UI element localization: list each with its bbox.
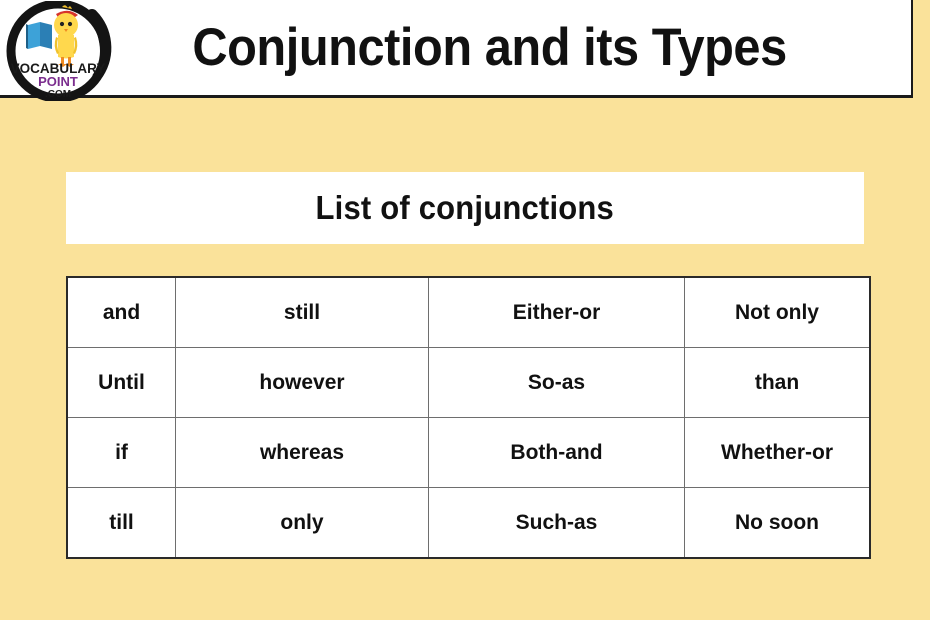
table-cell: Either-or [429, 277, 685, 348]
list-of-conjunctions-banner: List of conjunctions [66, 172, 864, 244]
book-icon [26, 22, 52, 49]
logo-line-com: .COM [45, 89, 71, 100]
table-cell: till [67, 488, 176, 559]
table-cell: No soon [685, 488, 871, 559]
table-cell: than [685, 348, 871, 418]
page-title: Conjunction and its Types [36, 17, 874, 78]
table-row: and still Either-or Not only [67, 277, 870, 348]
header-bar: Conjunction and its Types [0, 0, 913, 98]
vocabulary-point-logo[interactable]: VOCABULARY POINT .COM [6, 1, 118, 101]
list-of-conjunctions-title: List of conjunctions [316, 189, 614, 227]
conjunctions-table: and still Either-or Not only Until howev… [66, 276, 871, 559]
table-row: Until however So-as than [67, 348, 870, 418]
table-cell: Whether-or [685, 418, 871, 488]
table-cell: only [176, 488, 429, 559]
table-cell: and [67, 277, 176, 348]
logo-line-point: POINT [38, 74, 78, 89]
table-cell: Until [67, 348, 176, 418]
table-cell: whereas [176, 418, 429, 488]
table-cell: Both-and [429, 418, 685, 488]
table-row: if whereas Both-and Whether-or [67, 418, 870, 488]
table-cell: Not only [685, 277, 871, 348]
table-cell: if [67, 418, 176, 488]
table-cell: So-as [429, 348, 685, 418]
table-cell: Such-as [429, 488, 685, 559]
table-cell: however [176, 348, 429, 418]
table-row: till only Such-as No soon [67, 488, 870, 559]
table-cell: still [176, 277, 429, 348]
